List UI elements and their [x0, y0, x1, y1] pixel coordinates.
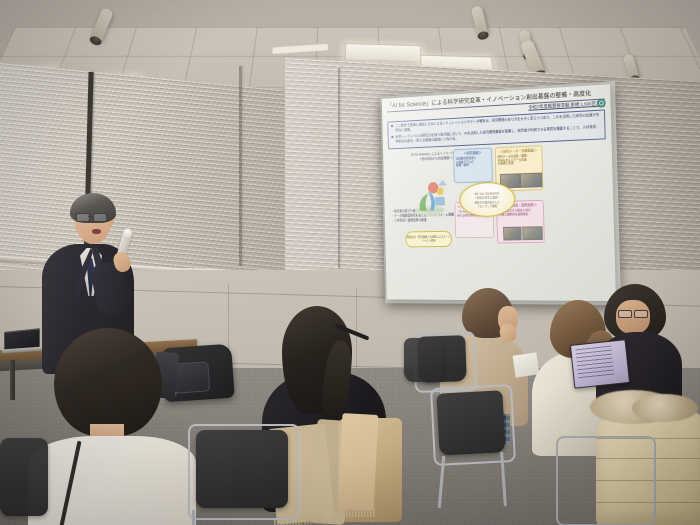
laptop-lavender[interactable]	[570, 339, 628, 388]
glasses-icon	[618, 310, 650, 317]
window-mullion	[338, 68, 340, 268]
chair-frame	[430, 384, 516, 466]
scarf-solid-panel	[338, 413, 379, 511]
table-leg	[10, 360, 15, 400]
slide-diagram: 「AI for Science」によるイノベーション創出 〜知の創出から社会実装…	[388, 142, 609, 248]
bullet-marker: ◆	[391, 135, 394, 145]
presenter-mouth	[92, 229, 101, 234]
slide-quadrant-top-left: ＜研究基盤＞ 高性能計算資源と AI基盤モデルの 整備・提供	[453, 148, 493, 184]
quadrant-thumbnail	[520, 173, 543, 188]
scarf-fringe	[340, 508, 376, 517]
window-mullion	[239, 66, 242, 266]
ministry-seal-icon	[597, 98, 606, 107]
center-oval-sub: 〜研究の変革と加速〜	[474, 195, 499, 200]
slide-content: 「AI for Science」による科学研究変革・イノベーション創出基盤の整備…	[382, 84, 616, 301]
quadrant-thumbnail	[503, 227, 522, 241]
quadrant-body: 研究データの収集・蓄積・ 共有を支えるデータ基盤 の整備と活用	[498, 154, 540, 167]
glasses-lens	[634, 310, 648, 318]
front-white-hair	[54, 328, 162, 436]
glasses-lens	[93, 213, 107, 222]
sprout-illustration	[414, 174, 455, 217]
slide-cloud-label: 関係府省・研究機関との連携によるオールジャパン体制	[405, 231, 452, 248]
chair-back	[0, 438, 48, 516]
glasses-lens	[76, 213, 90, 222]
glasses-icon	[76, 213, 110, 221]
chair-leg	[192, 510, 195, 525]
chair-frame	[188, 424, 300, 520]
center-oval-tag: 研究力の強み生かした フロンティア開拓	[475, 200, 500, 208]
laptop-lavender-text-lines	[575, 346, 614, 380]
front-white-blouse	[28, 436, 196, 525]
presentation-photo: 「AI for Science」による科学研究変革・イノベーション創出基盤の整備…	[0, 0, 700, 525]
glasses-bridge	[88, 216, 93, 217]
glasses-lens	[618, 310, 632, 318]
projection-screen[interactable]: 「AI for Science」による科学研究変革・イノベーション創出基盤の整備…	[382, 84, 616, 301]
quadrant-thumbnail	[522, 226, 543, 240]
bullet-marker: ◆	[391, 124, 394, 134]
chair-back	[404, 338, 444, 382]
ceiling-light-panel	[345, 43, 422, 62]
quadrant-body: 高性能計算資源と AI基盤モデルの 整備・提供	[456, 156, 490, 169]
chair-frame	[556, 436, 656, 525]
fur-hood-trim	[632, 394, 698, 422]
